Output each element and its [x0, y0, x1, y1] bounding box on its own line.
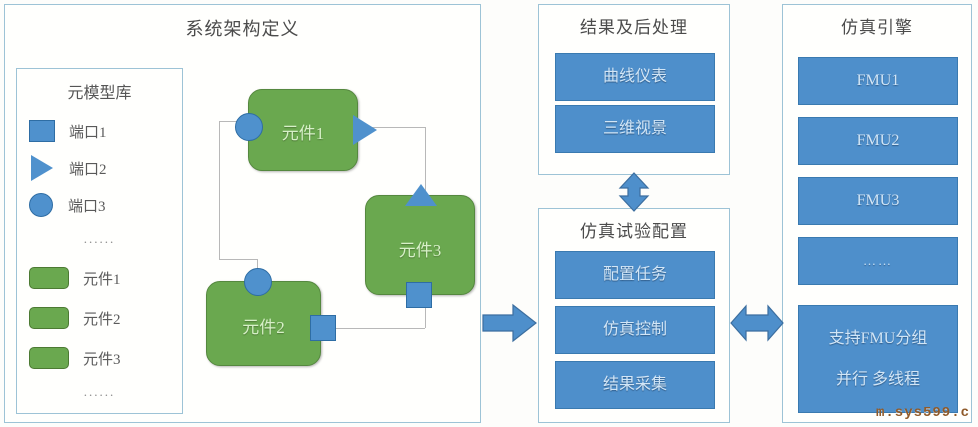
component-swatch-icon: [29, 267, 69, 289]
component-block-1-label: 元件1: [249, 119, 357, 144]
legend-ellipsis-components: ......: [17, 384, 182, 400]
triangle-port-icon: [31, 155, 53, 181]
triangle-port-icon[interactable]: [405, 184, 437, 206]
panel-simulation-config: 仿真试验配置 配置任务 仿真控制 结果采集: [538, 208, 730, 423]
config-item-label: 仿真控制: [603, 318, 667, 341]
engine-item-label: FMU3: [857, 189, 900, 212]
legend-item-port-1[interactable]: 端口1: [29, 117, 179, 145]
wire-segment: [323, 328, 425, 329]
legend-label-port-2: 端口2: [69, 158, 107, 179]
wire-segment: [219, 121, 220, 259]
config-item-label: 配置任务: [603, 263, 667, 286]
arrow-config-to-engine-icon: [730, 298, 784, 348]
results-item-label: 曲线仪表: [603, 65, 667, 88]
legend-item-component-2[interactable]: 元件2: [29, 304, 179, 332]
metamodel-library-legend: 元模型库 端口1 端口2 端口3 ...... 元件1 元件2 元件3 ....…: [16, 68, 183, 414]
component-swatch-icon: [29, 307, 69, 329]
legend-item-port-3[interactable]: 端口3: [29, 191, 179, 219]
panel-title-config: 仿真试验配置: [539, 217, 729, 242]
engine-item-label: FMU2: [857, 129, 900, 152]
triangle-port-icon[interactable]: [353, 115, 377, 145]
legend-label-component-1: 元件1: [83, 268, 121, 289]
square-port-icon[interactable]: [406, 282, 432, 308]
arrow-results-to-config-icon: [618, 172, 650, 212]
engine-note-line-1: 支持FMU分组: [829, 327, 928, 350]
engine-item-label: FMU1: [857, 69, 900, 92]
arrow-architecture-to-config-icon: [481, 300, 539, 346]
engine-item-label: ……: [863, 252, 893, 271]
circle-port-icon[interactable]: [235, 113, 263, 141]
engine-item-fmu1[interactable]: FMU1: [798, 57, 958, 105]
component-block-2-label: 元件2: [207, 313, 320, 338]
panel-title-architecture: 系统架构定义: [5, 15, 480, 41]
config-item-configure-task[interactable]: 配置任务: [555, 251, 715, 299]
engine-item-ellipsis[interactable]: ……: [798, 237, 958, 285]
results-item-curve-instrument[interactable]: 曲线仪表: [555, 53, 715, 101]
engine-item-fmu3[interactable]: FMU3: [798, 177, 958, 225]
config-item-simulation-control[interactable]: 仿真控制: [555, 306, 715, 354]
engine-note-fmu-grouping[interactable]: 支持FMU分组 并行 多线程: [798, 305, 958, 413]
circle-port-icon[interactable]: [244, 268, 272, 296]
legend-item-port-2[interactable]: 端口2: [29, 154, 179, 182]
engine-note-line-2: 并行 多线程: [836, 368, 920, 391]
component-swatch-icon: [29, 347, 69, 369]
legend-label-port-3: 端口3: [68, 195, 106, 216]
legend-label-component-3: 元件3: [83, 348, 121, 369]
results-item-3d-view[interactable]: 三维视景: [555, 105, 715, 153]
legend-label-component-2: 元件2: [83, 308, 121, 329]
watermark-text: m.sys599.c: [876, 405, 970, 421]
component-block-1[interactable]: 元件1: [248, 89, 358, 171]
legend-item-component-3[interactable]: 元件3: [29, 344, 179, 372]
engine-item-fmu2[interactable]: FMU2: [798, 117, 958, 165]
panel-simulation-engine: 仿真引擎 FMU1 FMU2 FMU3 …… 支持FMU分组 并行 多线程: [782, 4, 972, 423]
square-port-icon: [29, 120, 55, 142]
legend-title: 元模型库: [17, 79, 182, 103]
panel-system-architecture: 系统架构定义 元模型库 端口1 端口2 端口3 ...... 元件1 元件2 元…: [4, 4, 481, 423]
legend-item-component-1[interactable]: 元件1: [29, 264, 179, 292]
component-block-3-label: 元件3: [366, 236, 474, 261]
panel-results-postprocessing: 结果及后处理 曲线仪表 三维视景: [538, 4, 730, 175]
component-block-3[interactable]: 元件3: [365, 195, 475, 295]
legend-ellipsis-ports: ......: [17, 231, 182, 247]
wire-segment: [219, 259, 257, 260]
config-item-result-collection[interactable]: 结果采集: [555, 361, 715, 409]
circle-port-icon: [29, 193, 53, 217]
config-item-label: 结果采集: [603, 373, 667, 396]
panel-title-engine: 仿真引擎: [783, 13, 971, 38]
legend-label-port-1: 端口1: [69, 121, 107, 142]
results-item-label: 三维视景: [603, 117, 667, 140]
panel-title-results: 结果及后处理: [539, 13, 729, 38]
square-port-icon[interactable]: [310, 315, 336, 341]
